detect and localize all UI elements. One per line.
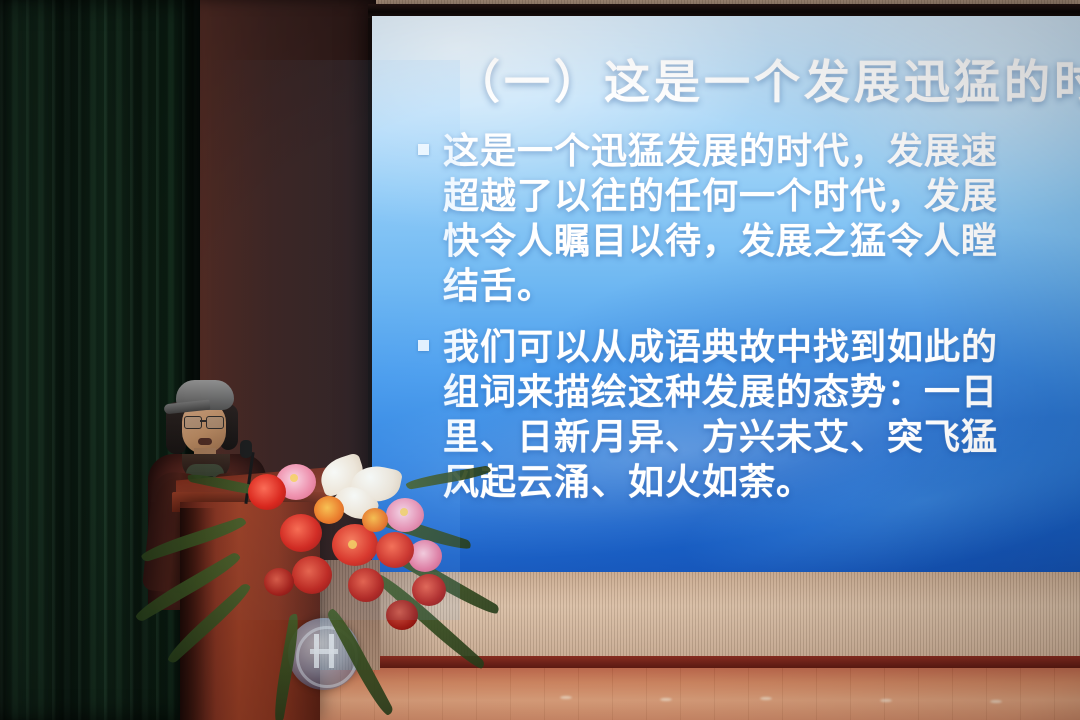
stage-curtain xyxy=(0,0,200,720)
gerbera-flower-red xyxy=(376,532,414,568)
gerbera-flower-red xyxy=(264,568,294,596)
bullet-line: 结舌。 xyxy=(443,263,998,308)
list-item: 这是一个迅猛发展的时代，发展速 超越了以往的任何一个时代，发展 快令人瞩目以待，… xyxy=(418,128,1080,308)
gerbera-flower-red xyxy=(248,474,286,510)
gerbera-flower-red xyxy=(280,514,322,552)
glasses-icon xyxy=(184,416,226,427)
presentation-photo-scene: （一）这是一个发展迅猛的时 这是一个迅猛发展的时代，发展速 超越了以往的任何一个… xyxy=(0,0,1080,720)
floor-reflection xyxy=(760,697,772,700)
bullet-line: 快令人瞩目以待，发展之猛令人瞠 xyxy=(443,218,998,263)
gerbera-flower-red xyxy=(386,600,418,630)
floor-reflection xyxy=(660,698,672,701)
square-bullet-icon xyxy=(418,340,429,351)
curtain-sheen xyxy=(8,0,58,720)
bullet-line: 超越了以往的任何一个时代，发展 xyxy=(443,173,998,218)
flower-center xyxy=(348,540,357,549)
gerbera-flower-orange xyxy=(362,508,388,532)
bullet-line: 这是一个迅猛发展的时代，发展速 xyxy=(443,128,998,173)
bullet-line: 里、日新月异、方兴未艾、突飞猛 xyxy=(443,414,998,459)
speaker-mouth xyxy=(198,438,212,445)
bullet-line: 组词来描绘这种发展的态势：一日 xyxy=(443,369,998,414)
gerbera-flower-red xyxy=(348,568,384,602)
glasses-lens-left xyxy=(184,416,202,429)
bullet-line: 我们可以从成语典故中找到如此的 xyxy=(443,324,998,369)
bullet-text-block: 这是一个迅猛发展的时代，发展速 超越了以往的任何一个时代，发展 快令人瞩目以待，… xyxy=(443,128,998,308)
flower-center xyxy=(400,508,408,516)
floor-reflection xyxy=(880,699,892,702)
glasses-lens-right xyxy=(206,416,224,429)
floor-reflection xyxy=(560,696,572,699)
gerbera-flower-red xyxy=(292,556,332,594)
flower-center xyxy=(290,474,298,482)
palm-frond xyxy=(405,465,491,490)
bullet-text-block: 我们可以从成语典故中找到如此的 组词来描绘这种发展的态势：一日 里、日新月异、方… xyxy=(443,324,998,504)
floral-arrangement xyxy=(236,440,526,670)
slide-title: （一）这是一个发展迅猛的时 xyxy=(454,46,1080,112)
gerbera-flower-orange xyxy=(314,496,344,524)
floor-reflection xyxy=(990,700,1002,703)
square-bullet-icon xyxy=(418,144,429,155)
bullet-line: 风起云涌、如火如荼。 xyxy=(443,459,998,504)
gerbera-flower-red xyxy=(412,574,446,606)
